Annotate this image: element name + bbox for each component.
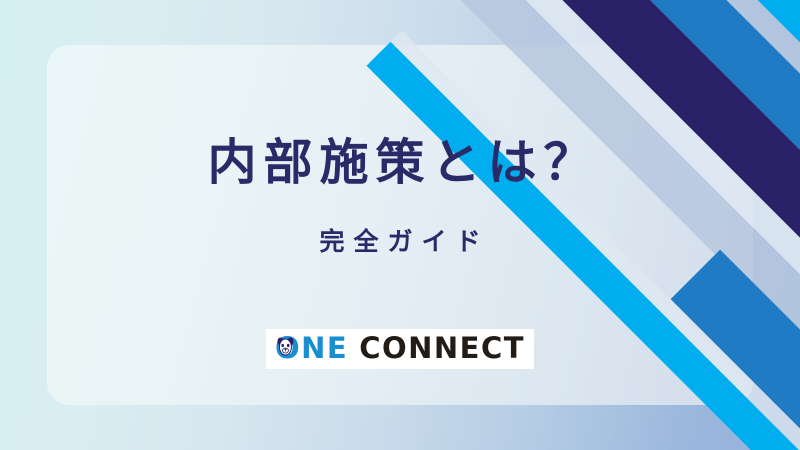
logo-secondary-text: CONNECT: [359, 334, 525, 363]
page-title: 内部施策とは？: [0, 138, 800, 187]
brand-logo: ONE CONNECT: [266, 329, 534, 369]
slide-canvas: 内部施策とは？ 完全ガイド ONE: [0, 0, 800, 450]
slide-content: 内部施策とは？ 完全ガイド ONE: [0, 0, 800, 450]
page-subtitle: 完全ガイド: [0, 222, 800, 258]
logo-one-wrap: ONE: [275, 334, 348, 363]
dog-face-icon: [277, 337, 294, 357]
